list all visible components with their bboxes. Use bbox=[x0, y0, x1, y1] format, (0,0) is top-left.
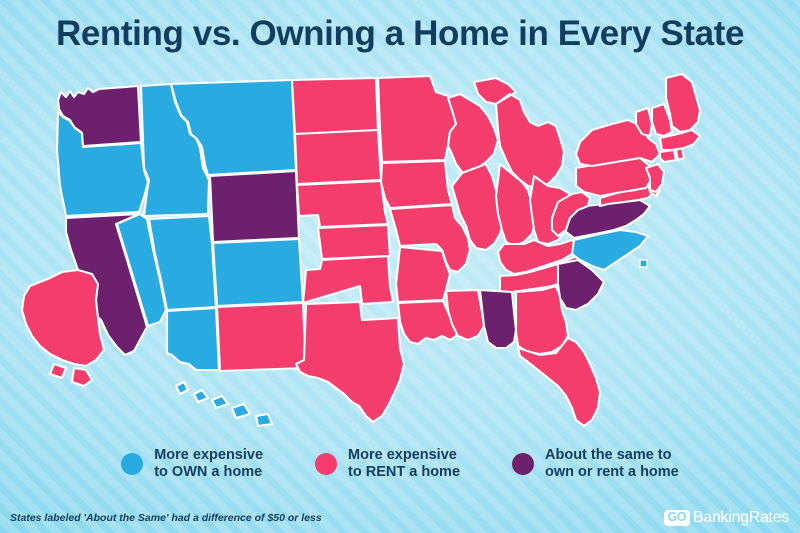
state-ak[interactable] bbox=[22, 270, 104, 386]
logo-wordmark: BankingRates bbox=[693, 509, 789, 526]
state-hi[interactable] bbox=[176, 382, 272, 426]
state-ia[interactable] bbox=[381, 161, 452, 208]
state-al[interactable] bbox=[480, 290, 516, 348]
state-sd[interactable] bbox=[295, 130, 381, 184]
legend-own-line2: to OWN a home bbox=[154, 464, 262, 480]
legend-own-line1: More expensive bbox=[154, 447, 263, 463]
state-me[interactable] bbox=[666, 74, 700, 132]
state-dc[interactable] bbox=[640, 260, 647, 267]
legend-rent-line2: to RENT a home bbox=[348, 464, 460, 480]
footnote: States labeled 'About the Same' had a di… bbox=[10, 512, 322, 524]
state-fl[interactable] bbox=[518, 338, 600, 426]
state-wi[interactable] bbox=[448, 94, 498, 174]
state-ar[interactable] bbox=[396, 247, 450, 302]
legend-item-rent[interactable]: More expensive to RENT a home bbox=[315, 447, 460, 481]
legend: More expensive to OWN a home More expens… bbox=[0, 447, 800, 497]
legend-same-line2: own or rent a home bbox=[545, 464, 679, 480]
page-title: Renting vs. Owning a Home in Every State bbox=[0, 14, 800, 54]
legend-label-same: About the same to own or rent a home bbox=[545, 447, 679, 481]
state-mn[interactable] bbox=[378, 76, 460, 162]
state-wy[interactable] bbox=[210, 171, 299, 242]
brand-logo[interactable]: GO BankingRates bbox=[664, 509, 789, 526]
logo-mark-go: GO bbox=[664, 510, 690, 526]
legend-swatch-rent bbox=[315, 453, 337, 475]
legend-item-same[interactable]: About the same to own or rent a home bbox=[512, 447, 679, 481]
us-choropleth-map bbox=[0, 64, 800, 444]
legend-swatch-same bbox=[512, 453, 534, 475]
state-ks[interactable] bbox=[318, 225, 390, 259]
legend-label-own: More expensive to OWN a home bbox=[154, 447, 263, 481]
state-co[interactable] bbox=[213, 239, 303, 306]
legend-item-own[interactable]: More expensive to OWN a home bbox=[121, 447, 263, 481]
state-az[interactable] bbox=[167, 308, 219, 370]
state-tx[interactable] bbox=[296, 302, 404, 422]
legend-label-rent: More expensive to RENT a home bbox=[348, 447, 460, 481]
legend-rent-line1: More expensive bbox=[348, 447, 457, 463]
state-ne[interactable] bbox=[297, 181, 388, 227]
state-ct[interactable] bbox=[660, 150, 676, 162]
state-nd[interactable] bbox=[292, 78, 378, 134]
state-ok[interactable] bbox=[303, 256, 393, 304]
legend-swatch-own bbox=[121, 453, 143, 475]
map-svg bbox=[0, 64, 800, 444]
legend-same-line1: About the same to bbox=[545, 447, 671, 463]
infographic-canvas: Renting vs. Owning a Home in Every State… bbox=[0, 0, 800, 533]
state-nm[interactable] bbox=[217, 303, 306, 371]
